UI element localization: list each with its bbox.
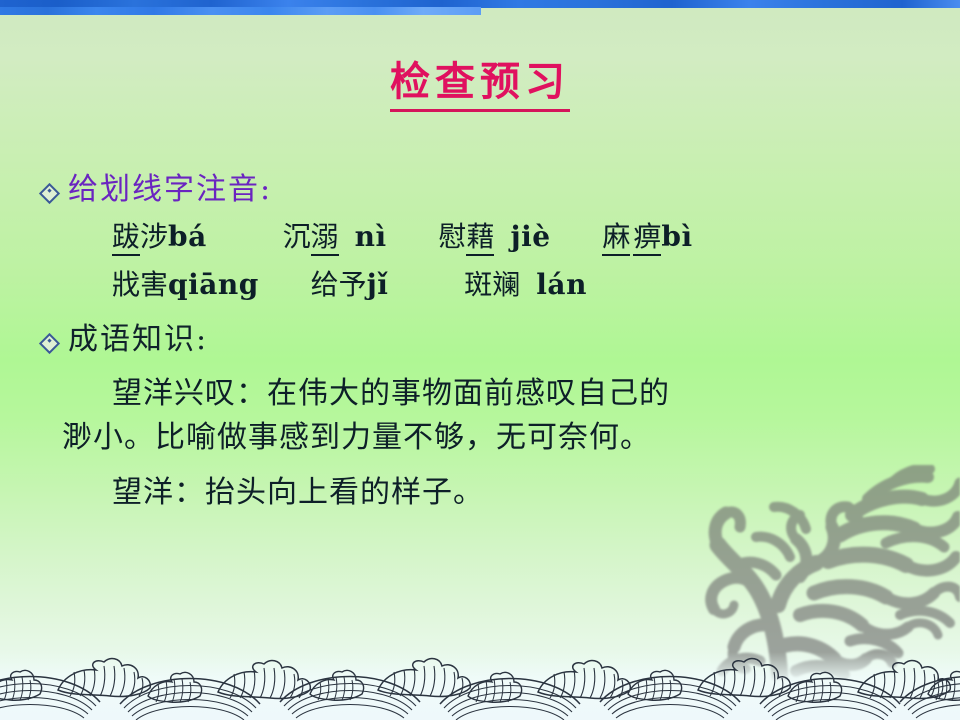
hanzi-plain: 沉 — [283, 220, 311, 253]
pinyin-item-jiyu: 给予jǐ — [311, 265, 389, 306]
hanzi-plain: 斑 — [464, 268, 492, 301]
slide-content: 给划线字注音: 跋涉bá 沉溺nì 慰藉jiè 麻痹bì 戕害qiāng 给予j… — [0, 170, 960, 515]
idiom-definition-line-1: 望洋兴叹：在伟大的事物面前感叹自己的 — [0, 372, 960, 416]
hanzi-plain: 给 — [311, 268, 339, 301]
pinyin-item-mabi: 麻痹bì — [602, 217, 692, 258]
pinyin-text: bì — [661, 220, 692, 253]
pinyin-item-bashe: 跋涉bá — [112, 217, 207, 258]
top-banner-bar-secondary — [0, 7, 481, 15]
hanzi-plain: 涉 — [140, 220, 168, 253]
pinyin-item-qianghai: 戕害qiāng — [112, 265, 259, 306]
hanzi-plain: 斓 — [492, 268, 520, 301]
hanzi-plain: 戕 — [112, 268, 140, 301]
hanzi-underlined: 溺 — [311, 220, 339, 256]
pinyin-item-banlan: 斑斓lán — [464, 265, 587, 306]
pinyin-text: jǐ — [367, 268, 389, 301]
pinyin-text: nì — [355, 220, 387, 253]
hanzi-underlined: 藉 — [466, 220, 494, 256]
pinyin-item-weijie: 慰藉jiè — [438, 217, 550, 258]
pinyin-text: qiāng — [168, 268, 259, 301]
pinyin-text: jiè — [510, 220, 550, 253]
hanzi-plain: 害 — [140, 268, 168, 301]
idiom-definition-line-3: 望洋：抬头向上看的样子。 — [0, 471, 960, 515]
pinyin-row-1: 跋涉bá 沉溺nì 慰藉jiè 麻痹bì — [0, 217, 960, 258]
section-heading-pinyin: 给划线字注音: — [68, 170, 272, 211]
slide-title-container: 检查预习 — [0, 60, 960, 112]
hanzi-underlined: 麻 — [602, 220, 630, 256]
diamond-bullet-icon — [42, 336, 68, 356]
hanzi-plain: 慰 — [438, 220, 466, 253]
bullet-row-pinyin: 给划线字注音: — [0, 170, 960, 211]
idiom-definition-line-2: 渺小。比喻做事感到力量不够，无可奈何。 — [0, 416, 960, 460]
pinyin-item-chenni: 沉溺nì — [283, 217, 387, 258]
section-heading-idiom: 成语知识: — [68, 320, 208, 361]
ocean-wave-border-icon — [0, 652, 960, 720]
diamond-shape — [39, 183, 60, 204]
pinyin-text: lán — [536, 268, 587, 301]
pinyin-row-2: 戕害qiāng 给予jǐ 斑斓lán — [0, 265, 960, 306]
pinyin-text: bá — [168, 220, 207, 253]
hanzi-underlined: 跋 — [112, 220, 140, 256]
hanzi-underlined-second: 痹 — [633, 220, 661, 256]
slide-title: 检查预习 — [390, 60, 570, 112]
slide-canvas: 检查预习 给划线字注音: 跋涉bá 沉溺nì 慰藉jiè 麻痹bì 戕害qiān… — [0, 0, 960, 720]
hanzi-plain: 予 — [339, 268, 367, 301]
diamond-shape — [39, 333, 60, 354]
bullet-row-idiom: 成语知识: — [0, 320, 960, 361]
diamond-bullet-icon — [42, 186, 68, 206]
